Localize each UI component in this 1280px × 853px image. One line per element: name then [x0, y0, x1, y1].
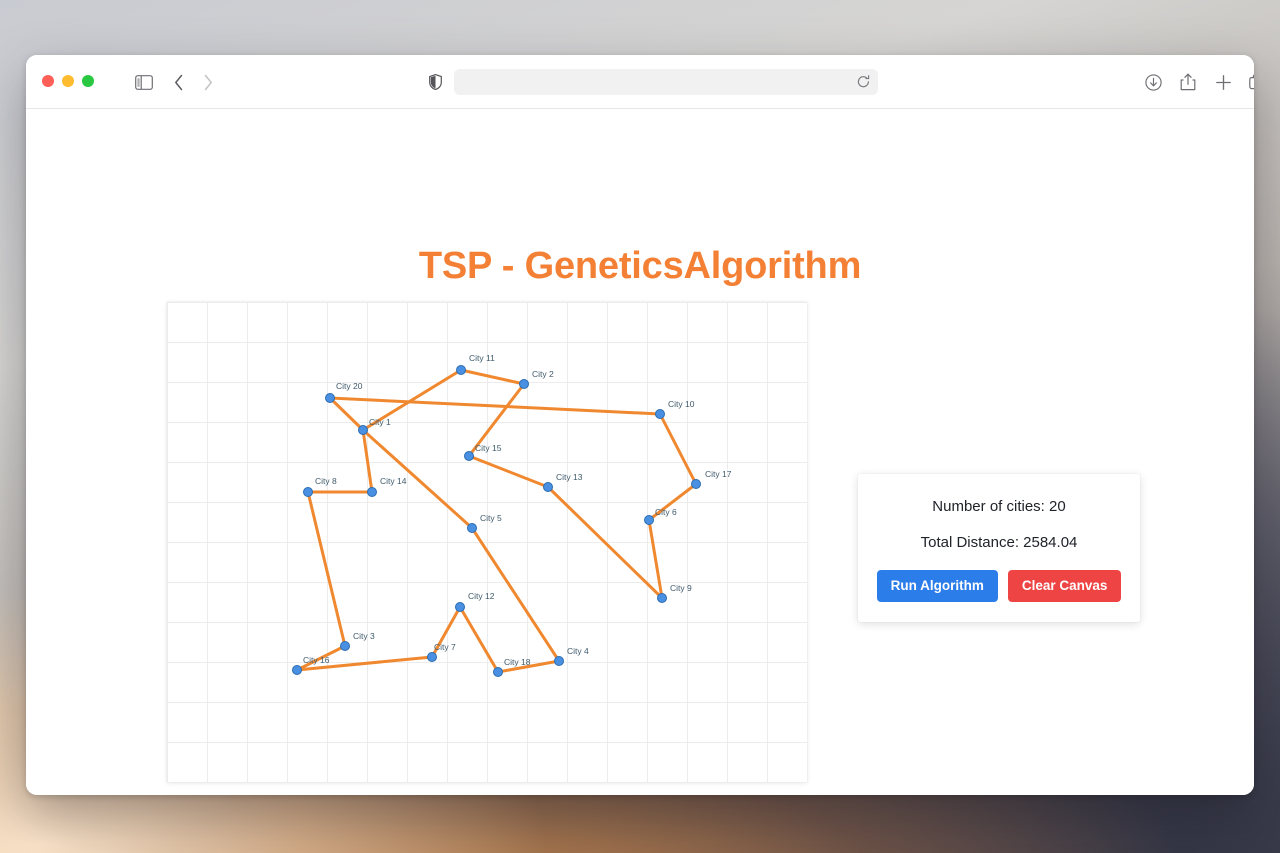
browser-toolbar	[26, 55, 1254, 109]
run-algorithm-button[interactable]: Run Algorithm	[877, 570, 998, 602]
clear-canvas-button[interactable]: Clear Canvas	[1008, 570, 1122, 602]
tab-overview-icon[interactable]	[1246, 70, 1254, 94]
reload-icon[interactable]	[851, 70, 875, 94]
tsp-tour-plot	[167, 302, 807, 782]
panel-button-group: Run Algorithm Clear Canvas	[876, 570, 1122, 602]
forward-navigation-icon[interactable]	[198, 70, 218, 94]
address-bar[interactable]	[454, 69, 878, 95]
window-controls	[42, 75, 94, 87]
desktop-background: TSP - GeneticsAlgorithm City 1City 2City…	[0, 0, 1280, 853]
cities-count-label: Number of cities: 20	[876, 498, 1122, 516]
downloads-icon[interactable]	[1142, 70, 1164, 94]
info-panel: Number of cities: 20 Total Distance: 258…	[858, 474, 1140, 622]
page-title: TSP - GeneticsAlgorithm	[26, 247, 1254, 285]
total-distance-label: Total Distance: 2584.04	[876, 534, 1122, 552]
sidebar-toggle-icon[interactable]	[132, 70, 156, 94]
new-tab-icon[interactable]	[1212, 70, 1234, 94]
close-window-button[interactable]	[42, 75, 54, 87]
back-navigation-icon[interactable]	[169, 70, 189, 94]
minimize-window-button[interactable]	[62, 75, 74, 87]
share-icon[interactable]	[1177, 70, 1199, 94]
tsp-canvas[interactable]: City 1City 2City 3City 4City 5City 6City…	[167, 302, 807, 782]
browser-window: TSP - GeneticsAlgorithm City 1City 2City…	[26, 55, 1254, 795]
maximize-window-button[interactable]	[82, 75, 94, 87]
web-page-content: TSP - GeneticsAlgorithm City 1City 2City…	[26, 109, 1254, 795]
privacy-shield-icon[interactable]	[425, 70, 445, 94]
